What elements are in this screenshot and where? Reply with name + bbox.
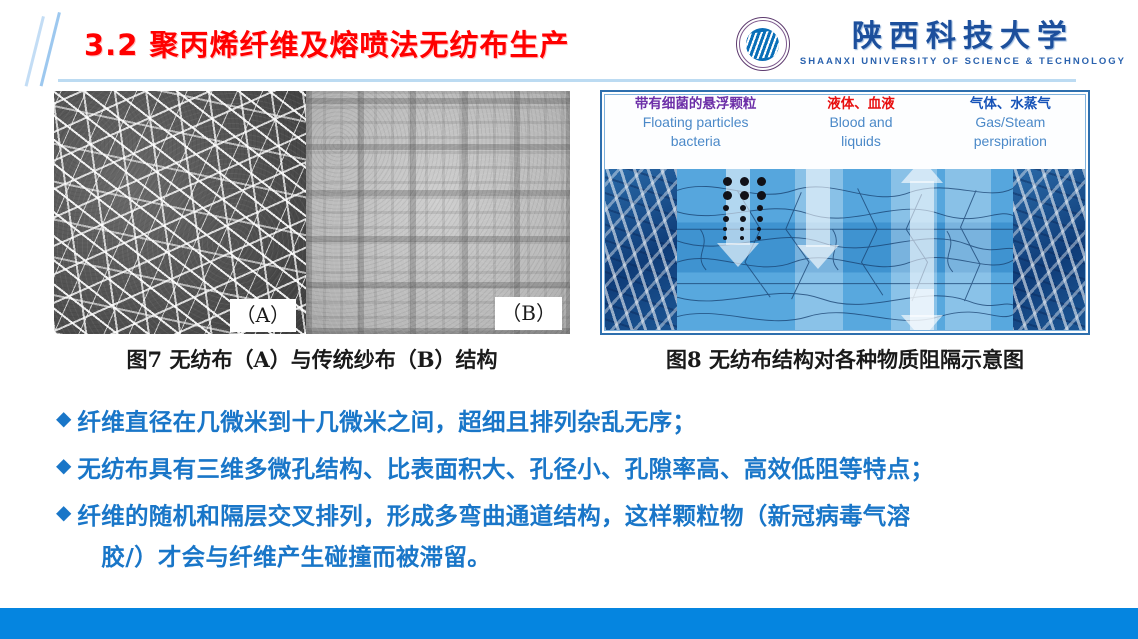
legend-en-liquids-line2: liquids <box>788 134 933 150</box>
legend-item-gas: 气体、水蒸气 Gas/Steam perspiration <box>936 97 1085 169</box>
fibre-web-cross-section <box>677 169 1013 331</box>
particle-dot <box>723 216 729 222</box>
figure-8-caption: 图8 无纺布结构对各种物质阻隔示意图 <box>600 344 1090 374</box>
micrograph-texture-a <box>54 91 306 334</box>
bullet-text-2: 无纺布具有三维多微孔结构、比表面积大、孔径小、孔隙率高、高效低阻等特点； <box>77 449 934 490</box>
figure-7-image: （A） （B） <box>54 91 570 334</box>
footer-bar <box>0 608 1138 639</box>
legend-en-particles-line1: Floating particles <box>607 115 784 131</box>
slide-canvas: 3.2 聚丙烯纤维及熔喷法无纺布生产 陕西科技大学 SHAANXI UNIVER… <box>0 0 1138 639</box>
bullet-text-1: 纤维直径在几微米到十几微米之间，超细且排列杂乱无序； <box>77 402 696 443</box>
particle-dot <box>740 236 744 240</box>
slide-header: 3.2 聚丙烯纤维及熔喷法无纺布生产 陕西科技大学 SHAANXI UNIVER… <box>0 0 1138 82</box>
barrier-legend-row: 带有细菌的悬浮颗粒 Floating particles bacteria 液体… <box>605 97 1085 169</box>
nonwoven-sem-micrograph: （A） <box>54 91 306 334</box>
particle-dot <box>757 205 763 211</box>
particle-dot <box>740 191 749 200</box>
legend-cn-gas: 气体、水蒸气 <box>938 97 1083 112</box>
legend-en-gas-line1: Gas/Steam <box>938 115 1083 131</box>
university-seal-icon <box>736 17 790 71</box>
legend-cn-liquids: 液体、血液 <box>788 97 933 112</box>
list-item: ◆ 无纺布具有三维多微孔结构、比表面积大、孔径小、孔隙率高、高效低阻等特点； <box>56 449 1106 490</box>
bullet-text-3-line1: 纤维的随机和隔层交叉排列，形成多弯曲通道结构，这样颗粒物（新冠病毒气溶 <box>77 502 910 530</box>
panel-b-label: （B） <box>495 297 562 330</box>
particle-dot <box>723 191 732 200</box>
gas-arrow-head-up-icon <box>901 169 943 183</box>
bullet-text-3: 纤维的随机和隔层交叉排列，形成多弯曲通道结构，这样颗粒物（新冠病毒气溶 胶/）才… <box>77 496 910 578</box>
liquids-arrow-shaft <box>806 169 830 247</box>
legend-en-liquids-line1: Blood and <box>788 115 933 131</box>
panel-a-label: （A） <box>230 299 296 332</box>
particle-dot <box>757 236 761 240</box>
particle-dot <box>757 191 766 200</box>
particle-dot <box>740 216 746 222</box>
list-item: ◆ 纤维直径在几微米到十几微米之间，超细且排列杂乱无序； <box>56 402 1106 443</box>
particle-dot <box>757 177 766 186</box>
fibre-sem-strip-right <box>1013 169 1085 331</box>
legend-cn-particles: 带有细菌的悬浮颗粒 <box>607 97 784 112</box>
particle-dot <box>740 177 749 186</box>
particle-dot <box>740 205 746 211</box>
particles-arrow-head-icon <box>717 243 759 267</box>
fibre-sem-strip-left <box>605 169 677 331</box>
bullet-list: ◆ 纤维直径在几微米到十几微米之间，超细且排列杂乱无序； ◆ 无纺布具有三维多微… <box>56 402 1106 584</box>
gas-flow-arrow-down <box>901 289 943 331</box>
legend-en-particles-line2: bacteria <box>607 134 784 150</box>
liquids-flow-arrow <box>797 169 839 273</box>
title-underline <box>58 79 1076 82</box>
university-logo-text: 陕西科技大学 SHAANXI UNIVERSITY OF SCIENCE & T… <box>800 22 1126 67</box>
bacteria-particles-group <box>723 177 766 240</box>
particle-dot <box>740 227 744 231</box>
bullet-text-3-line2: 胶/）才会与纤维产生碰撞而被滞留。 <box>77 537 910 578</box>
gas-arrow-head-down-icon <box>901 315 943 331</box>
university-name-en: SHAANXI UNIVERSITY OF SCIENCE & TECHNOLO… <box>800 57 1126 67</box>
seal-emblem-icon <box>746 28 779 61</box>
gas-arrow-shaft-down <box>910 289 934 317</box>
legend-en-gas-line2: perspiration <box>938 134 1083 150</box>
barrier-schematic <box>605 169 1085 331</box>
figure-8-image: 带有细菌的悬浮颗粒 Floating particles bacteria 液体… <box>600 90 1090 335</box>
particle-dot <box>723 205 729 211</box>
legend-item-particles: 带有细菌的悬浮颗粒 Floating particles bacteria <box>605 97 786 169</box>
particle-dot <box>723 177 732 186</box>
particle-dot <box>757 216 763 222</box>
figure-7-caption: 图7 无纺布（A）与传统纱布（B）结构 <box>54 344 570 374</box>
legend-item-liquids: 液体、血液 Blood and liquids <box>786 97 935 169</box>
diamond-bullet-icon: ◆ <box>56 402 71 436</box>
particle-dot <box>723 236 727 240</box>
university-logo: 陕西科技大学 SHAANXI UNIVERSITY OF SCIENCE & T… <box>736 16 1126 72</box>
traditional-gauze-micrograph: （B） <box>306 91 570 334</box>
liquids-arrow-head-icon <box>797 245 839 269</box>
page-title: 3.2 聚丙烯纤维及熔喷法无纺布生产 <box>84 22 569 64</box>
list-item: ◆ 纤维的随机和隔层交叉排列，形成多弯曲通道结构，这样颗粒物（新冠病毒气溶 胶/… <box>56 496 1106 578</box>
diamond-bullet-icon: ◆ <box>56 496 71 530</box>
particle-dot <box>757 227 761 231</box>
university-name-cn: 陕西科技大学 <box>852 22 1074 52</box>
diamond-bullet-icon: ◆ <box>56 449 71 483</box>
figure-8-frame: 带有细菌的悬浮颗粒 Floating particles bacteria 液体… <box>604 94 1086 331</box>
particle-dot <box>723 227 727 231</box>
